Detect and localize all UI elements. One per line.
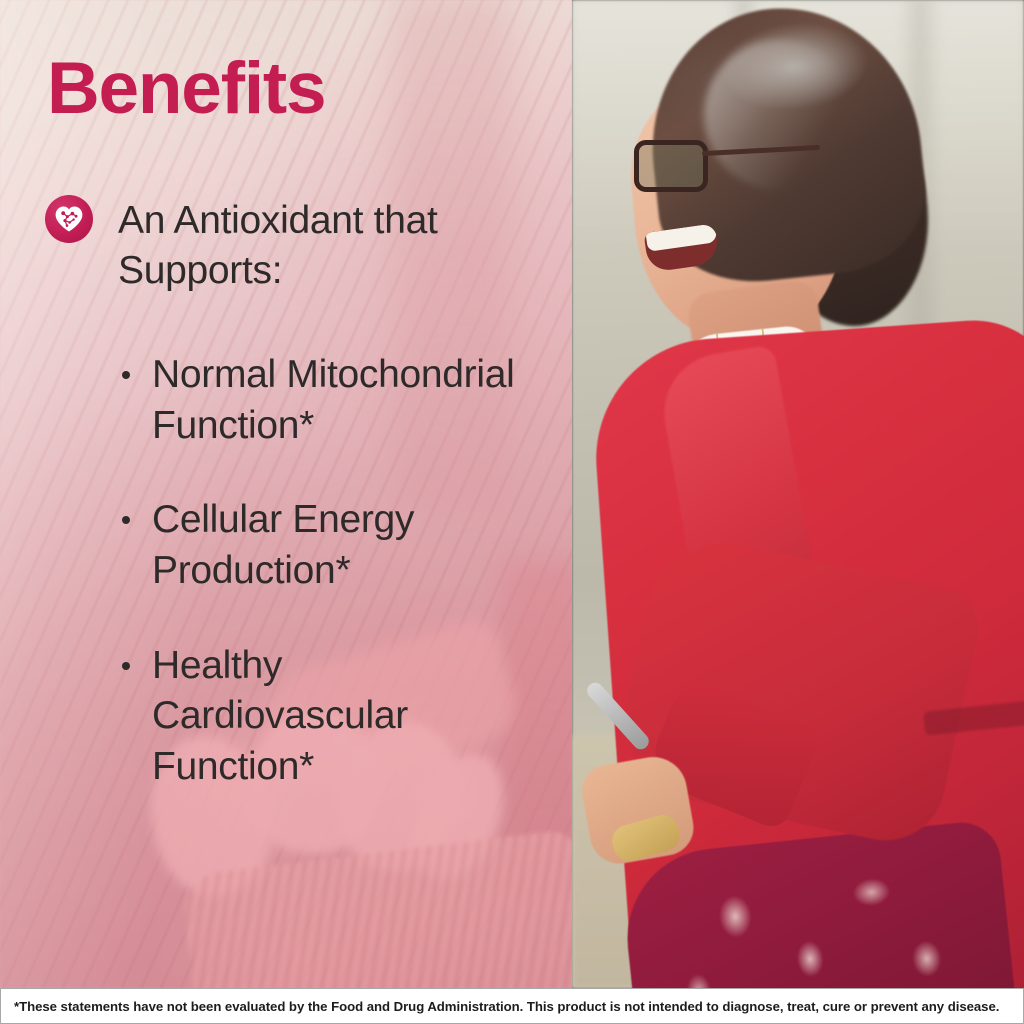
page-title: Benefits xyxy=(47,52,325,125)
list-item-label: Cellular Energy Production* xyxy=(152,498,414,592)
list-item: Cellular Energy Production* xyxy=(118,495,538,596)
product-benefits-canvas: Benefits xyxy=(0,0,1024,1024)
benefits-lede: An Antioxidant that Supports: xyxy=(118,196,518,296)
list-item-label: Healthy Cardiovascular Function* xyxy=(152,644,408,788)
benefits-content: Benefits xyxy=(0,0,572,988)
benefits-panel: Benefits xyxy=(0,0,572,988)
eyeglasses-icon xyxy=(634,140,794,196)
list-item: Healthy Cardiovascular Function* xyxy=(118,641,538,793)
eyeglass-lens xyxy=(634,140,708,192)
list-item: Normal Mitochondrial Function* xyxy=(118,350,538,451)
heart-molecule-icon xyxy=(45,195,93,243)
list-item-label: Normal Mitochondrial Function* xyxy=(152,353,514,447)
benefits-bullet-list: Normal Mitochondrial Function* Cellular … xyxy=(118,350,538,793)
bullet-dot-icon xyxy=(122,662,130,670)
bullet-dot-icon xyxy=(122,516,130,524)
lifestyle-photo xyxy=(572,0,1024,988)
bullet-dot-icon xyxy=(122,371,130,379)
disclaimer-text: *These statements have not been evaluate… xyxy=(1,999,999,1014)
disclaimer-bar: *These statements have not been evaluate… xyxy=(0,988,1024,1024)
